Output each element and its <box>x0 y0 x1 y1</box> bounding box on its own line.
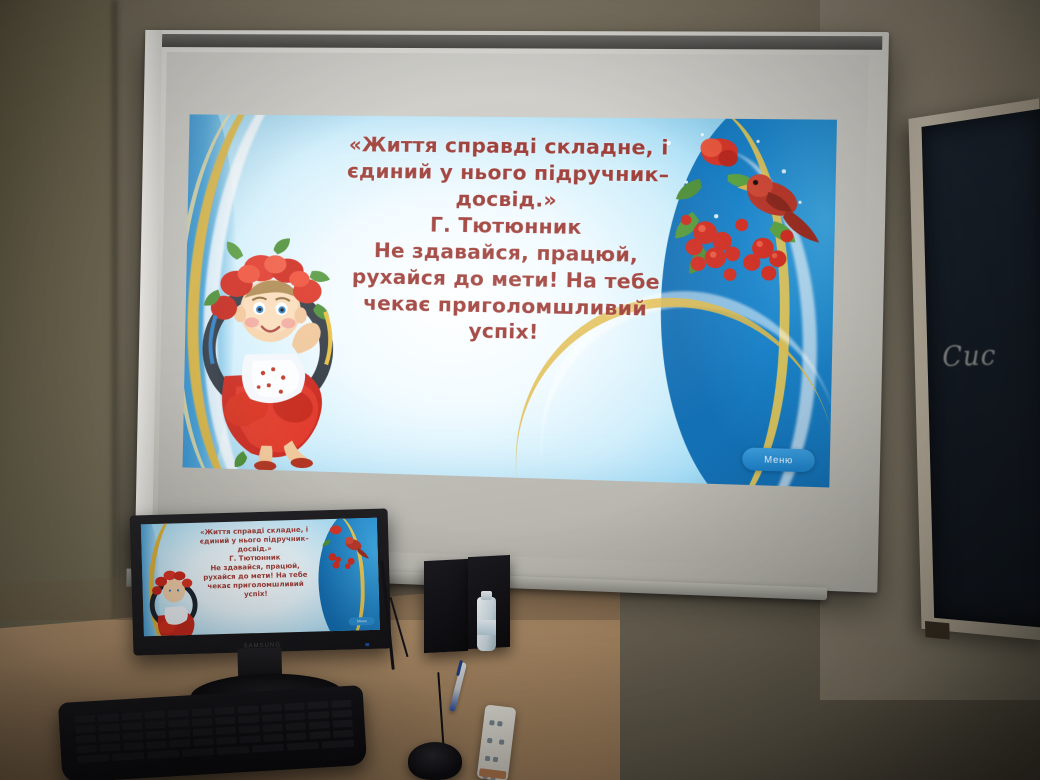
bottle-cap <box>481 591 492 600</box>
monitor-screen[interactable]: «Життя справді складне, і єдиний у нього… <box>141 518 380 637</box>
bottle-label <box>477 620 496 635</box>
speaker-left <box>424 559 468 653</box>
projected-slide[interactable]: «Життя справді складне, і єдиний у нього… <box>183 114 837 487</box>
slide-quote-text: «Життя справді складне, і єдиний у нього… <box>282 131 735 350</box>
blackboard-surface: Сис <box>922 109 1040 629</box>
blackboard-chalk-text: Сис <box>942 339 997 373</box>
classroom-scene: Сис <box>0 0 1040 780</box>
desktop-monitor[interactable]: «Життя справді складне, і єдиний у нього… <box>130 508 393 690</box>
whiteboard-top-strip <box>162 34 882 50</box>
blackboard-bottom-bracket <box>925 621 950 640</box>
projection-whiteboard[interactable]: «Життя справді складне, і єдиний у нього… <box>135 30 889 593</box>
keyboard-keys[interactable] <box>75 700 354 766</box>
wall-blackboard: Сис <box>909 98 1040 641</box>
wall-corner-shadow <box>112 0 122 660</box>
monitor-bezel: «Життя справді складне, і єдиний у нього… <box>130 508 392 655</box>
wall-left-panel <box>0 0 118 640</box>
monitor-menu-button[interactable]: Меню <box>349 617 375 626</box>
computer-mouse[interactable] <box>408 742 462 780</box>
monitor-power-led <box>365 643 369 646</box>
slide-menu-button[interactable]: Меню <box>742 447 815 472</box>
monitor-slide-text: «Життя справді складне, і єдиний у нього… <box>173 525 337 601</box>
